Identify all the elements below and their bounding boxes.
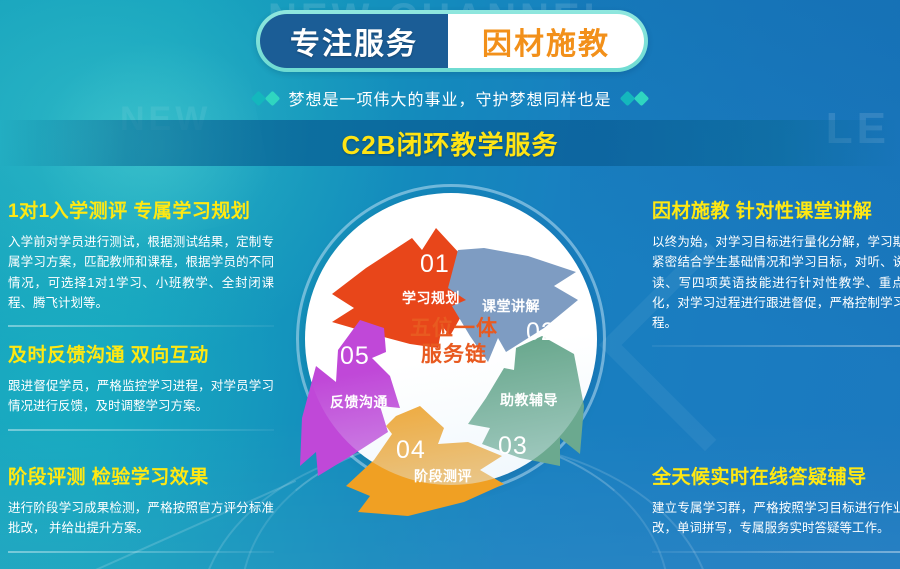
diamond-ornament-left xyxy=(253,93,278,104)
info-block-online-support: 全天候实时在线答疑辅导 建立专属学习群，严格按照学习目标进行作业批改，单词拼写，… xyxy=(652,462,900,553)
info-block-heading: 及时反馈沟通 双向互动 xyxy=(8,340,274,367)
diamond-ornament-right xyxy=(622,93,647,104)
info-block-body: 入学前对学员进行测试，根据测试结果，定制专属学习方案，匹配教师和课程，根据学员的… xyxy=(8,232,274,313)
diagram-number-03: 03 xyxy=(498,432,528,461)
diamond-icon xyxy=(619,90,635,106)
diagram-number-01: 01 xyxy=(420,250,450,279)
info-block-tailored-teaching: 因材施教 针对性课堂讲解 以终为始，对学习目标进行量化分解，学习期间紧密结合学生… xyxy=(652,196,900,347)
diagram-number-04: 04 xyxy=(396,436,426,465)
divider xyxy=(652,551,900,553)
diagram-number-05: 05 xyxy=(340,342,370,371)
section-title-text: C2B闭环教学服务 xyxy=(341,125,558,162)
info-block-body: 以终为始，对学习目标进行量化分解，学习期间紧密结合学生基础情况和学习目标，对听、… xyxy=(652,232,900,333)
pill-segment-tailored-teaching[interactable]: 因材施教 xyxy=(448,14,644,68)
divider xyxy=(8,551,274,553)
subtitle-row: 梦想是一项伟大的事业，守护梦想同样也是 xyxy=(0,84,900,112)
divider xyxy=(8,325,274,327)
diagram-label-01: 学习规划 xyxy=(402,288,460,308)
pill-segment-focus-service[interactable]: 专注服务 xyxy=(260,14,448,68)
diagram-label-04: 阶段测评 xyxy=(414,466,472,486)
section-title-bar: C2B闭环教学服务 xyxy=(0,120,900,166)
service-chain-diagram: 01 学习规划 02 课堂讲解 03 助教辅导 04 阶段测评 05 反馈沟通 … xyxy=(292,176,610,564)
info-block-body: 建立专属学习群，严格按照学习目标进行作业批改，单词拼写，专属服务实时答疑等工作。 xyxy=(652,498,900,539)
diagram-label-05: 反馈沟通 xyxy=(330,392,388,412)
diagram-number-02: 02 xyxy=(526,318,556,347)
banner-stage: NEW CHANNEL LE NEW 专注服务 因材施教 梦想是一项伟大的事业，… xyxy=(0,0,900,569)
divider xyxy=(8,429,274,431)
pill-left-label: 专注服务 xyxy=(290,19,418,63)
diagram-label-03: 助教辅导 xyxy=(500,390,558,410)
info-block-heading: 全天候实时在线答疑辅导 xyxy=(652,462,900,489)
info-block-heading: 阶段评测 检验学习效果 xyxy=(8,462,274,489)
pill-right-label: 因材施教 xyxy=(482,19,610,63)
info-block-feedback: 及时反馈沟通 双向互动 跟进督促学员，严格监控学习进程，对学员学习情况进行反馈，… xyxy=(8,340,274,431)
info-block-heading: 因材施教 针对性课堂讲解 xyxy=(652,196,900,223)
center-text-line-2: 服务链 xyxy=(380,342,528,368)
diagram-center-text: 五位一体 服务链 xyxy=(380,316,528,369)
diamond-icon xyxy=(633,90,649,106)
divider xyxy=(652,345,900,347)
diagram-label-02: 课堂讲解 xyxy=(482,296,540,316)
info-block-entry-assessment: 1对1入学测评 专属学习规划 入学前对学员进行测试，根据测试结果，定制专属学习方… xyxy=(8,196,274,327)
info-block-stage-review: 阶段评测 检验学习效果 进行阶段学习成果检测，严格按照官方评分标准批改， 并给出… xyxy=(8,462,274,553)
header-pill: 专注服务 因材施教 xyxy=(256,10,648,72)
subtitle-text: 梦想是一项伟大的事业，守护梦想同样也是 xyxy=(288,86,611,110)
center-text-line-1: 五位一体 xyxy=(380,316,528,342)
info-block-body: 跟进督促学员，严格监控学习进程，对学员学习情况进行反馈，及时调整学习方案。 xyxy=(8,376,274,417)
header-pill-inner: 专注服务 因材施教 xyxy=(260,14,644,68)
info-block-body: 进行阶段学习成果检测，严格按照官方评分标准批改， 并给出提升方案。 xyxy=(8,498,274,539)
info-block-heading: 1对1入学测评 专属学习规划 xyxy=(8,196,274,223)
diamond-icon xyxy=(265,90,281,106)
